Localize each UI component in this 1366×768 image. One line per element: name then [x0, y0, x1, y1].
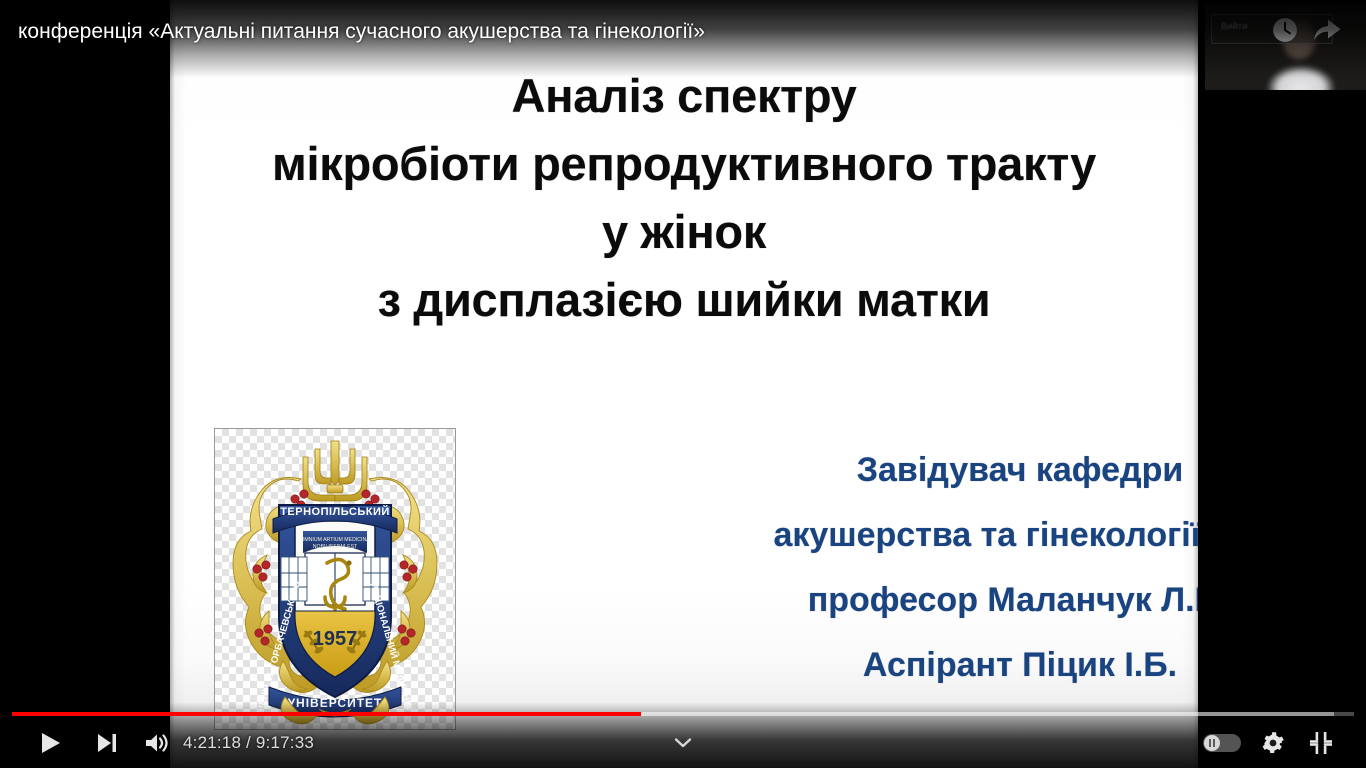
slide-title: Аналіз спектру мікробіоти репродуктивног…	[170, 62, 1198, 334]
chevron-down-icon	[674, 737, 692, 749]
autoplay-toggle[interactable]	[1196, 718, 1248, 768]
settings-button[interactable]	[1250, 718, 1296, 768]
player-controls: 4:21:18 / 9:17:33	[0, 718, 1366, 768]
autoplay-toggle-knob-pause-icon	[1204, 735, 1220, 751]
ternopil-medical-university-emblem-icon: ТЕРНОПІЛЬСЬКИЙ OMNIUM ARTIUM MEDICINA NO…	[223, 435, 447, 727]
exit-fullscreen-icon	[1309, 731, 1333, 755]
svg-text:NOBILISSIMA EST: NOBILISSIMA EST	[313, 544, 358, 550]
presentation-slide: Аналіз спектру мікробіоти репродуктивног…	[170, 0, 1198, 768]
webcam-pip-overlay[interactable]: Вийти	[1205, 4, 1366, 90]
video-title[interactable]: конференція «Актуальні питання сучасного…	[18, 18, 705, 46]
next-video-button[interactable]	[84, 718, 130, 768]
exit-fullscreen-button[interactable]	[1298, 718, 1344, 768]
time-display: 4:21:18 / 9:17:33	[183, 718, 314, 768]
progress-bar-played	[12, 712, 641, 716]
youtube-video-player[interactable]: Аналіз спектру мікробіоти репродуктивног…	[0, 0, 1366, 768]
gear-icon	[1261, 731, 1285, 755]
autoplay-toggle-pill	[1203, 734, 1241, 752]
next-video-icon	[96, 732, 118, 754]
watch-later-clock-icon[interactable]	[1272, 17, 1298, 43]
volume-high-icon	[144, 732, 170, 754]
svg-text:УНІВЕРСИТЕТ: УНІВЕРСИТЕТ	[288, 696, 383, 710]
progress-bar-track[interactable]	[12, 712, 1354, 716]
letterbox-right	[1198, 0, 1366, 768]
play-button[interactable]	[28, 718, 74, 768]
slide-authors: Завідувач кафедри акушерства та гінеколо…	[670, 438, 1198, 698]
share-arrow-icon[interactable]	[1312, 16, 1342, 44]
play-arrow-icon	[40, 731, 62, 755]
svg-text:1957: 1957	[313, 628, 358, 650]
svg-text:ТЕРНОПІЛЬСЬКИЙ: ТЕРНОПІЛЬСЬКИЙ	[280, 505, 390, 518]
university-emblem-image: ТЕРНОПІЛЬСЬКИЙ OMNIUM ARTIUM MEDICINA NO…	[214, 428, 456, 730]
letterbox-left	[0, 0, 170, 768]
pip-exit-label: Вийти	[1221, 21, 1248, 31]
svg-text:OMNIUM ARTIUM MEDICINA: OMNIUM ARTIUM MEDICINA	[300, 537, 370, 543]
volume-button[interactable]	[134, 718, 180, 768]
expand-chapters-button[interactable]	[660, 718, 706, 768]
